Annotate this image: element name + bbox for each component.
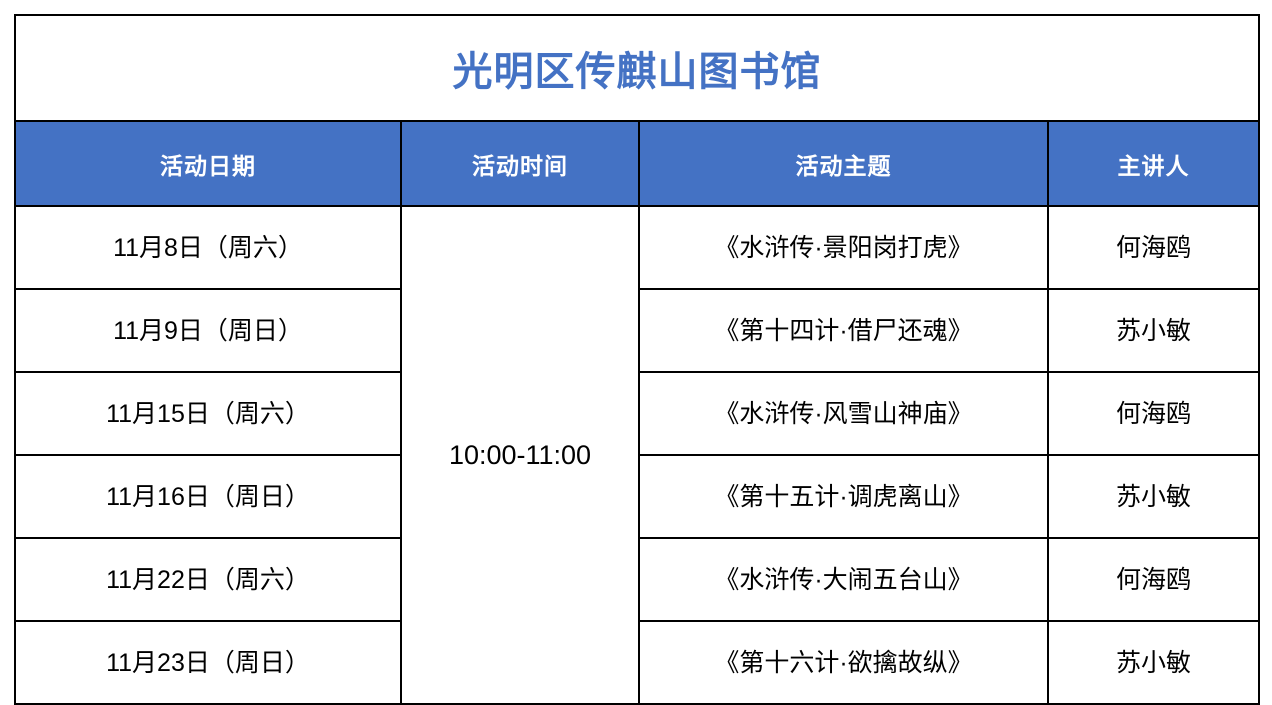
activity-schedule-table: 光明区传麒山图书馆 活动日期 活动时间 活动主题 主讲人 11月8日（周六） 1… — [14, 14, 1260, 705]
cell-topic: 《第十四计·借尸还魂》 — [639, 289, 1048, 372]
cell-topic: 《水浒传·景阳岗打虎》 — [639, 206, 1048, 289]
page-root: 光明区传麒山图书馆 活动日期 活动时间 活动主题 主讲人 11月8日（周六） 1… — [0, 0, 1272, 696]
cell-topic: 《水浒传·大闹五台山》 — [639, 538, 1048, 621]
cell-person: 何海鸥 — [1048, 206, 1259, 289]
column-header-time: 活动时间 — [401, 121, 639, 206]
cell-date: 11月23日（周日） — [15, 621, 401, 704]
cell-date: 11月22日（周六） — [15, 538, 401, 621]
cell-time-merged: 10:00-11:00 — [401, 206, 639, 704]
title-row: 光明区传麒山图书馆 — [15, 15, 1259, 121]
page-title: 光明区传麒山图书馆 — [15, 15, 1259, 121]
cell-person: 苏小敏 — [1048, 621, 1259, 704]
cell-person: 苏小敏 — [1048, 455, 1259, 538]
cell-date: 11月9日（周日） — [15, 289, 401, 372]
table-row: 11月8日（周六） 10:00-11:00 《水浒传·景阳岗打虎》 何海鸥 — [15, 206, 1259, 289]
cell-person: 何海鸥 — [1048, 538, 1259, 621]
cell-date: 11月8日（周六） — [15, 206, 401, 289]
cell-topic: 《第十六计·欲擒故纵》 — [639, 621, 1048, 704]
cell-topic: 《第十五计·调虎离山》 — [639, 455, 1048, 538]
column-header-date: 活动日期 — [15, 121, 401, 206]
cell-date: 11月15日（周六） — [15, 372, 401, 455]
cell-person: 何海鸥 — [1048, 372, 1259, 455]
cell-person: 苏小敏 — [1048, 289, 1259, 372]
cell-date: 11月16日（周日） — [15, 455, 401, 538]
header-row: 活动日期 活动时间 活动主题 主讲人 — [15, 121, 1259, 206]
cell-topic: 《水浒传·风雪山神庙》 — [639, 372, 1048, 455]
column-header-topic: 活动主题 — [639, 121, 1048, 206]
column-header-person: 主讲人 — [1048, 121, 1259, 206]
